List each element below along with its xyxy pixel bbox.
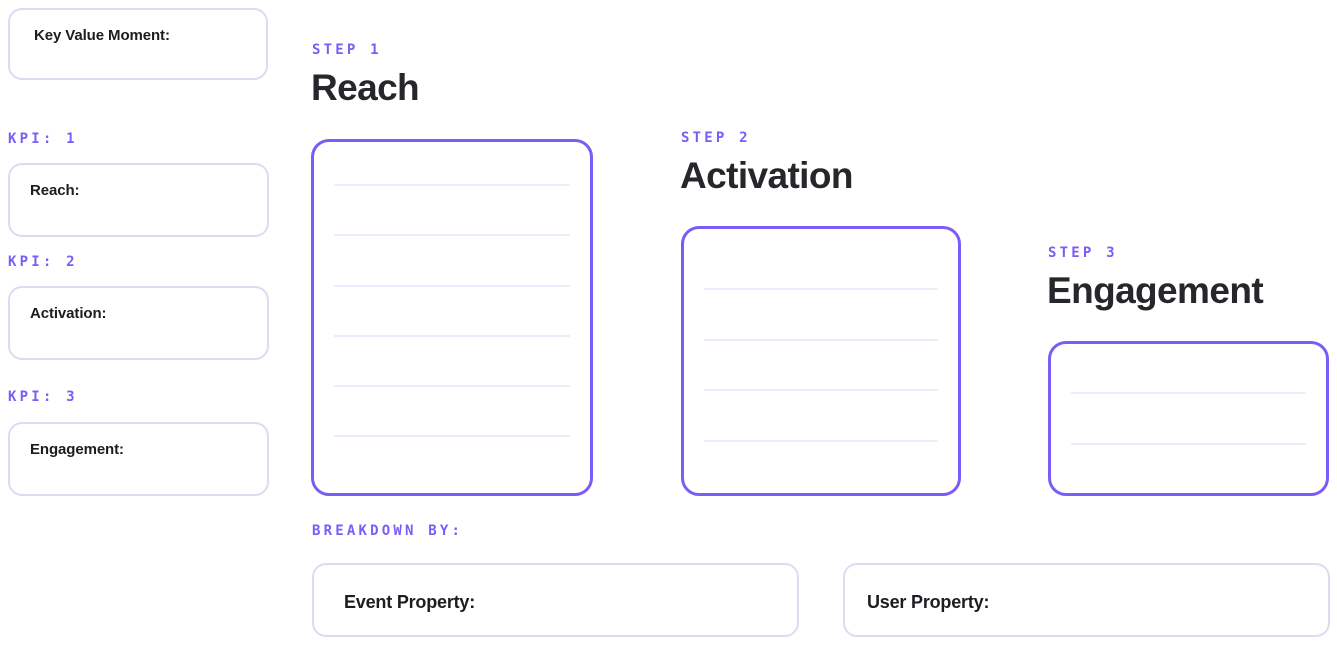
breakdown-by-eyebrow: BREAKDOWN BY: xyxy=(312,524,463,538)
rule-line xyxy=(704,339,938,341)
rule-line xyxy=(334,435,570,437)
rule-line xyxy=(704,440,938,442)
rule-line xyxy=(334,234,570,236)
step-2-title: Activation xyxy=(680,157,853,194)
rule-line xyxy=(334,184,570,186)
step-3-eyebrow: STEP 3 xyxy=(1048,246,1118,260)
kpi-2-eyebrow: KPI: 2 xyxy=(8,255,78,269)
kpi-1-label: Reach: xyxy=(30,182,79,199)
kpi-2-label: Activation: xyxy=(30,305,106,322)
step-1-eyebrow: STEP 1 xyxy=(312,43,382,57)
kpi-3-eyebrow: KPI: 3 xyxy=(8,390,78,404)
step-3-title: Engagement xyxy=(1047,272,1263,309)
rule-line xyxy=(334,285,570,287)
rule-line xyxy=(704,288,938,290)
step-1-title: Reach xyxy=(311,69,419,106)
step-3-card[interactable] xyxy=(1048,341,1329,496)
kpi-1-card[interactable]: Reach: xyxy=(8,163,269,237)
rule-line xyxy=(1071,392,1306,394)
rule-line xyxy=(1071,443,1306,445)
rule-line xyxy=(334,385,570,387)
event-property-card[interactable]: Event Property: xyxy=(312,563,799,637)
kpi-3-card[interactable]: Engagement: xyxy=(8,422,269,496)
key-value-moment-label: Key Value Moment: xyxy=(34,27,170,44)
kpi-framework-canvas: { "sidebar": { "key_value_moment": { "la… xyxy=(0,0,1337,646)
user-property-label: User Property: xyxy=(867,592,989,613)
step-2-card[interactable] xyxy=(681,226,961,496)
rule-line xyxy=(334,335,570,337)
event-property-label: Event Property: xyxy=(344,592,475,613)
kpi-2-card[interactable]: Activation: xyxy=(8,286,269,360)
step-2-rule-lines xyxy=(684,229,958,493)
step-1-card[interactable] xyxy=(311,139,593,496)
step-1-rule-lines xyxy=(314,142,590,493)
user-property-card[interactable]: User Property: xyxy=(843,563,1330,637)
kpi-1-eyebrow: KPI: 1 xyxy=(8,132,78,146)
step-3-rule-lines xyxy=(1051,344,1326,493)
step-2-eyebrow: STEP 2 xyxy=(681,131,751,145)
key-value-moment-card[interactable]: Key Value Moment: xyxy=(8,8,268,80)
rule-line xyxy=(704,389,938,391)
kpi-3-label: Engagement: xyxy=(30,441,124,458)
